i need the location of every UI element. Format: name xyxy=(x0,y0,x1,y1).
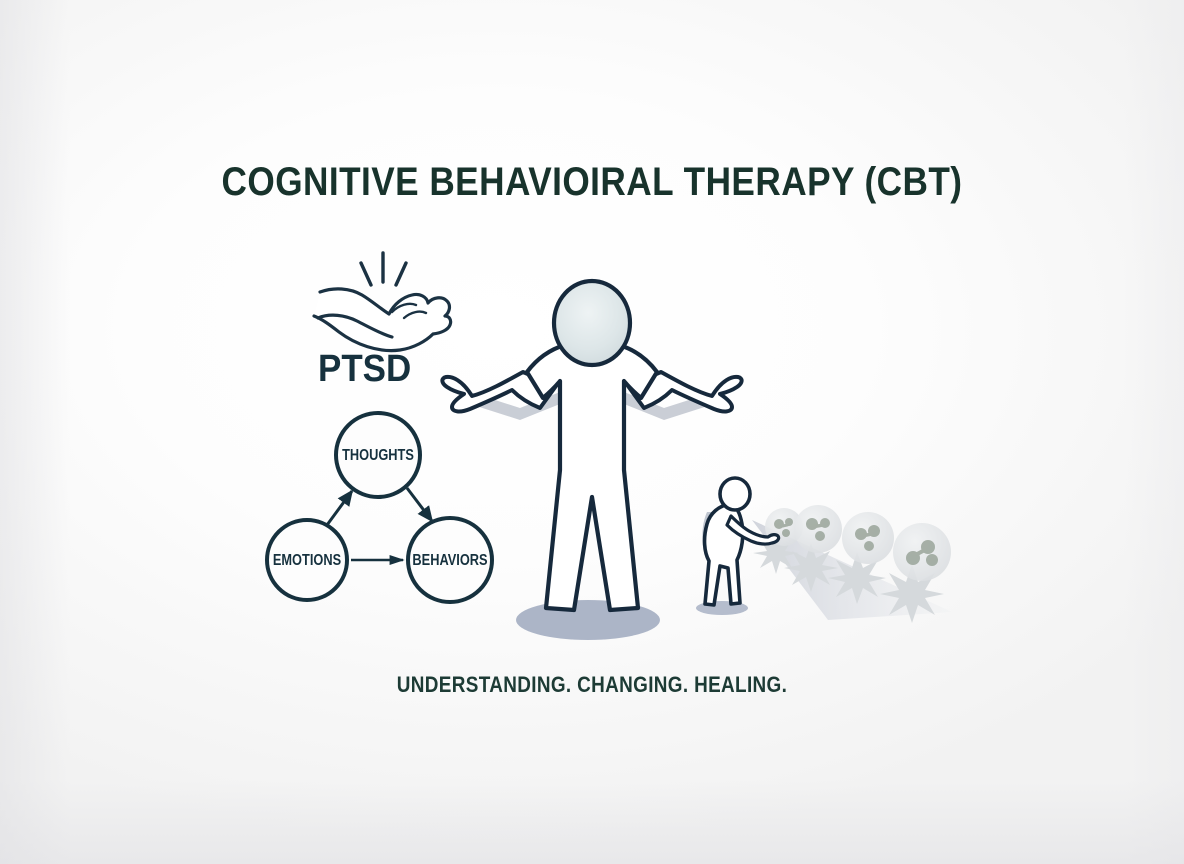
small-figure-body xyxy=(705,504,743,605)
cbt-cycle-diagram xyxy=(267,413,492,602)
node-label-emotions: EMOTIONS xyxy=(273,552,341,570)
condition-block: PTSD xyxy=(318,348,419,391)
bubble-4 xyxy=(893,523,951,581)
bubble-2 xyxy=(794,505,842,553)
cbt-poster: COGNITIVE BEHAVIOIRAL THERAPY (CBT) PTSD… xyxy=(0,0,1184,864)
arrow-thoughts-to-behaviors xyxy=(407,488,432,521)
ptsd-label: PTSD xyxy=(318,348,411,391)
bubble-3 xyxy=(842,512,894,564)
small-figure-head xyxy=(720,478,750,510)
illustration-layer xyxy=(0,0,1184,864)
page-subtitle: UNDERSTANDING. CHANGING. HEALING. xyxy=(83,672,1101,698)
hand-rays-icon xyxy=(361,253,406,285)
person-arms-open-icon xyxy=(442,281,741,640)
node-label-behaviors: BEHAVIORS xyxy=(412,552,487,570)
exposure-therapy-scene xyxy=(696,478,952,623)
open-hand-icon xyxy=(314,253,451,351)
figure-head xyxy=(554,281,630,365)
arrow-emotions-to-thoughts xyxy=(327,491,352,525)
node-label-thoughts: THOUGHTS xyxy=(342,447,414,465)
figure-body xyxy=(527,345,657,610)
page-title: COGNITIVE BEHAVIOIRAL THERAPY (CBT) xyxy=(71,160,1113,205)
title-block: COGNITIVE BEHAVIOIRAL THERAPY (CBT) xyxy=(0,160,1184,205)
subtitle-block: UNDERSTANDING. CHANGING. HEALING. xyxy=(0,672,1184,698)
